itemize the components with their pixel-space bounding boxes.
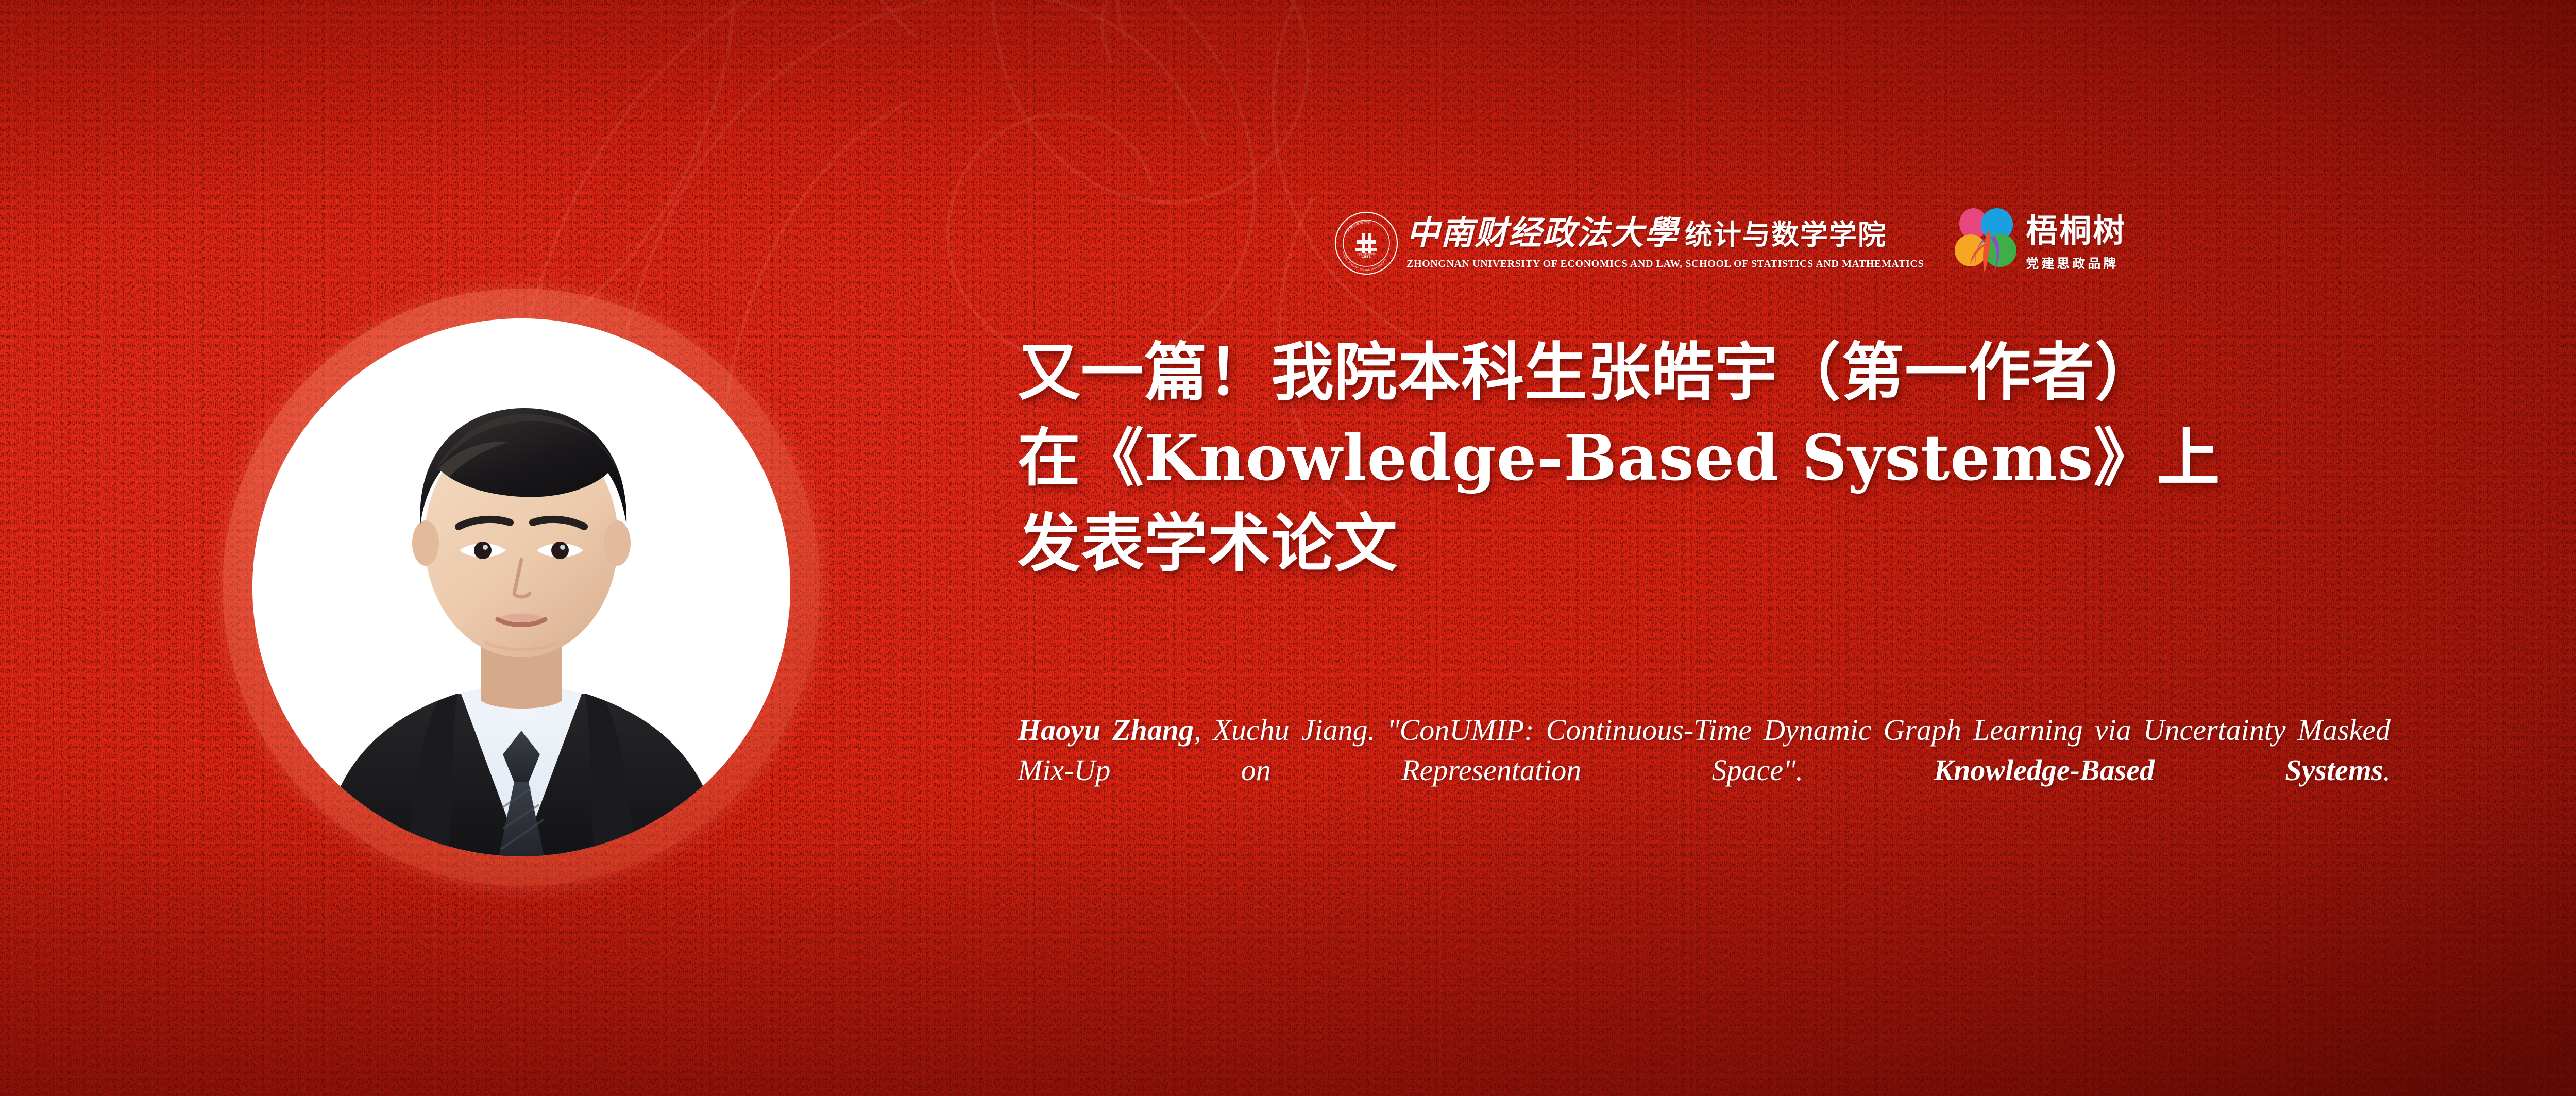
headline-line-1: 又一篇！我院本科生张皓宇（第一作者）	[1018, 330, 2501, 415]
citation-first-author: Haoyu Zhang	[1018, 713, 1194, 747]
citation-second-author: Xuchu Jiang	[1213, 713, 1368, 747]
wutong-text-block: 梧桐树 党建思政品牌	[2026, 215, 2126, 272]
university-seal-icon: 1951 统计与数学学院 SCHOOL OF STATISTICS AND MA…	[1334, 211, 1398, 275]
wutong-tree-logo-icon	[1954, 207, 2022, 279]
avatar	[223, 289, 820, 886]
citation-terminator: .	[2383, 753, 2391, 787]
poster-canvas: 1951 统计与数学学院 SCHOOL OF STATISTICS AND MA…	[0, 0, 2576, 1096]
headline-line-2: 在《Knowledge-Based Systems》上	[1018, 415, 2501, 501]
citation-block: Haoyu Zhang, Xuchu Jiang. "ConUMIP: Cont…	[1018, 710, 2391, 830]
university-title-line: 中南财经政法大學 统计与数学学院	[1406, 217, 1924, 250]
student-portrait-photo	[252, 318, 790, 856]
avatar-disc	[252, 318, 790, 856]
university-name-cn: 中南财经政法大學	[1406, 217, 1679, 250]
page-title: 又一篇！我院本科生张皓宇（第一作者） 在《Knowledge-Based Sys…	[1018, 330, 2501, 586]
wutong-brand: 梧桐树 党建思政品牌	[1954, 207, 2126, 279]
branding-bar: 1951 统计与数学学院 SCHOOL OF STATISTICS AND MA…	[1334, 197, 2221, 290]
citation-journal-name: Knowledge-Based Systems	[1934, 753, 2383, 787]
wutong-title: 梧桐树	[2026, 215, 2126, 247]
svg-text:中南财经政法大学: 中南财经政法大学	[1343, 220, 1371, 235]
citation-separator-1: ,	[1194, 713, 1213, 747]
university-titles: 中南财经政法大學 统计与数学学院 ZHONGNAN UNIVERSITY OF …	[1406, 217, 1924, 270]
citation-separator-2: .	[1368, 713, 1387, 747]
headline-line-3: 发表学术论文	[1018, 501, 2501, 586]
university-english-line: ZHONGNAN UNIVERSITY OF ECONOMICS AND LAW…	[1406, 258, 1924, 270]
school-name-cn: 统计与数学学院	[1685, 221, 1887, 249]
wutong-subtitle: 党建思政品牌	[2026, 254, 2126, 272]
svg-text:统计与数学学院: 统计与数学学院	[1357, 252, 1375, 256]
